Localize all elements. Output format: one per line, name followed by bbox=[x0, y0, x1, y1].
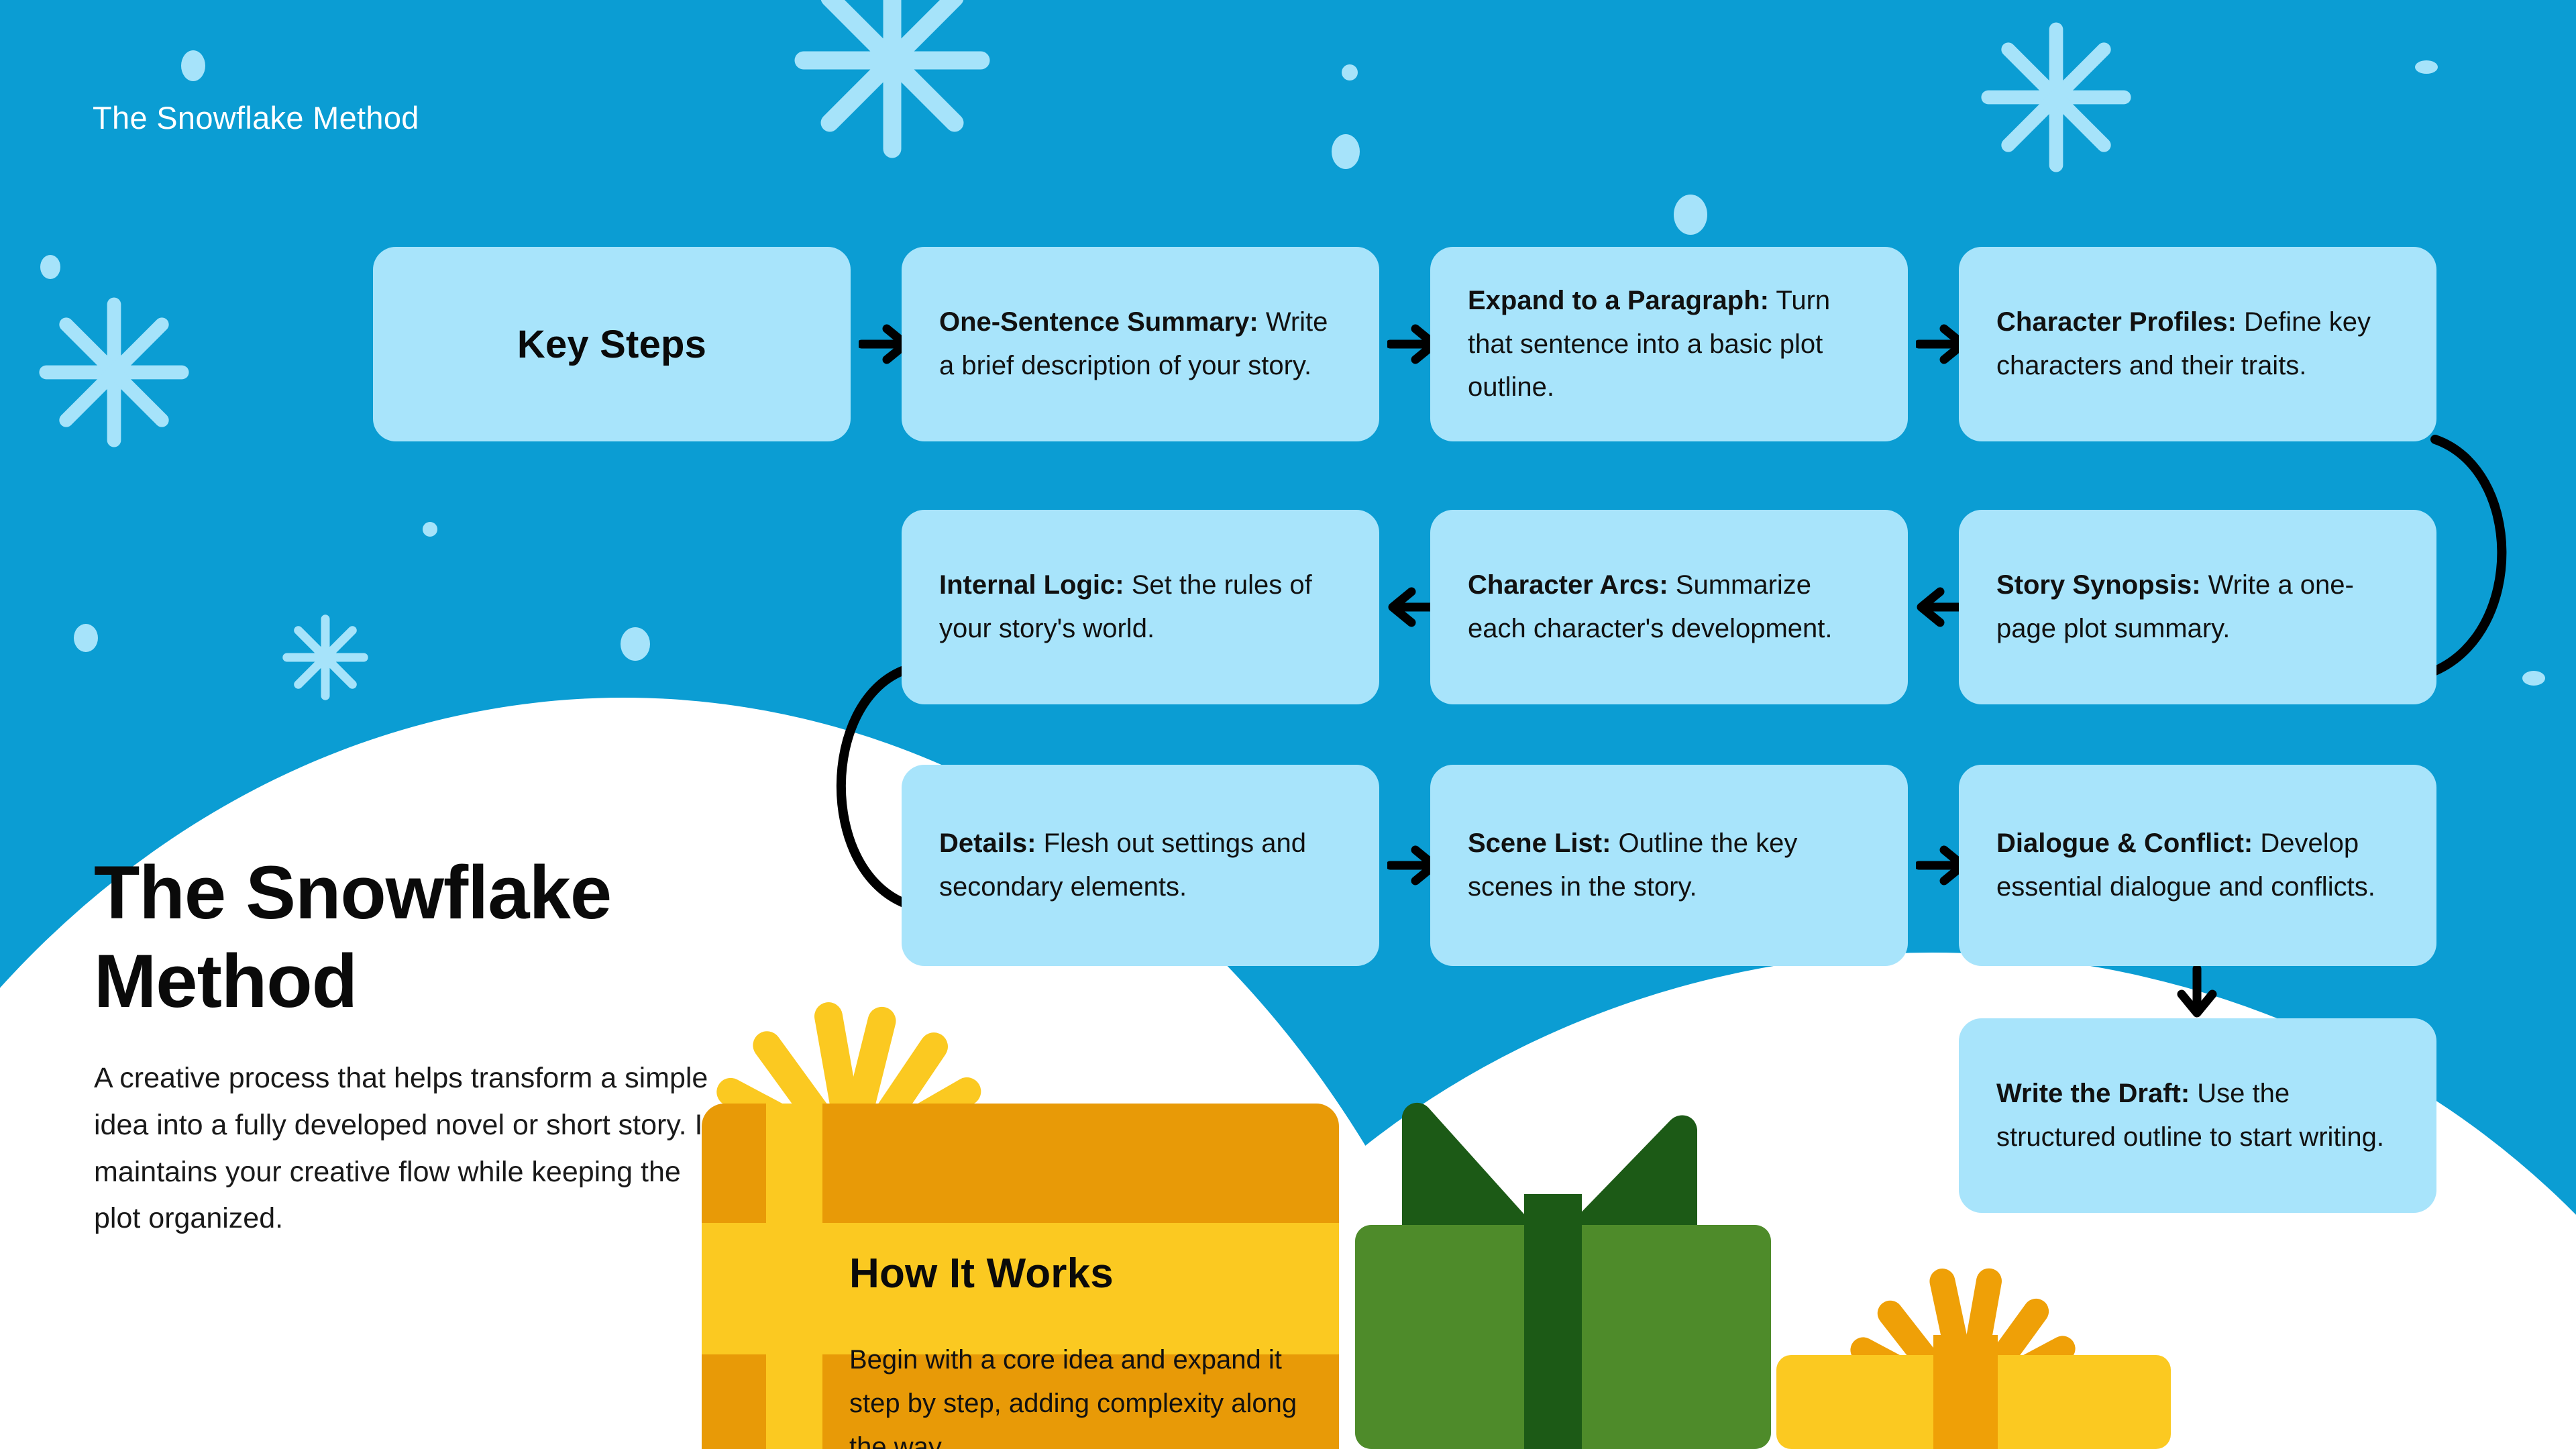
flow-step-8-term: Scene List: bbox=[1468, 828, 1611, 858]
flow-step-6-term: Internal Logic: bbox=[939, 570, 1124, 600]
flow-step-5[interactable]: Character Arcs: Summarize each character… bbox=[1430, 510, 1908, 704]
flow-step-4-term: Story Synopsis: bbox=[1996, 570, 2201, 600]
flow-step-9-text: Dialogue & Conflict: Develop essential d… bbox=[1959, 822, 2436, 909]
snowflake-icon-top-right bbox=[1979, 20, 2133, 174]
flow-step-4-text: Story Synopsis: Write a one-page plot su… bbox=[1959, 563, 2436, 651]
flow-step-6-text: Internal Logic: Set the rules of your st… bbox=[902, 563, 1379, 651]
flow-step-10-text: Write the Draft: Use the structured outl… bbox=[1959, 1072, 2436, 1159]
snow-dot bbox=[40, 255, 60, 279]
snowflake-icon-top bbox=[782, 0, 1003, 161]
flow-step-5-text: Character Arcs: Summarize each character… bbox=[1430, 563, 1908, 651]
snow-dot bbox=[181, 50, 205, 81]
page-title: The Snowflake Method bbox=[93, 99, 419, 136]
flow-step-4[interactable]: Story Synopsis: Write a one-page plot su… bbox=[1959, 510, 2436, 704]
intro-block: The Snowflake Method A creative process … bbox=[94, 849, 724, 1242]
snow-dot bbox=[1674, 195, 1707, 235]
infographic-canvas: The Snowflake Method Key Steps One-Sente… bbox=[0, 0, 2576, 1449]
flow-start-label: Key Steps bbox=[517, 322, 706, 367]
snow-dot bbox=[423, 522, 437, 537]
intro-title: The Snowflake Method bbox=[94, 849, 724, 1026]
snow-dot bbox=[1342, 64, 1358, 80]
flow-step-8-text: Scene List: Outline the key scenes in th… bbox=[1430, 822, 1908, 909]
snow-dot bbox=[1332, 134, 1360, 169]
flow-step-2-text: Expand to a Paragraph: Turn that sentenc… bbox=[1430, 279, 1908, 409]
snow-dot bbox=[74, 624, 98, 652]
flow-step-7[interactable]: Details: Flesh out settings and secondar… bbox=[902, 765, 1379, 966]
how-it-works-card: How It Works Begin with a core idea and … bbox=[702, 1104, 1339, 1449]
how-it-works-body: Begin with a core idea and expand it ste… bbox=[849, 1338, 1319, 1449]
flow-step-3-text: Character Profiles: Define key character… bbox=[1959, 301, 2436, 388]
flow-step-1-term: One-Sentence Summary: bbox=[939, 307, 1258, 337]
flow-step-8[interactable]: Scene List: Outline the key scenes in th… bbox=[1430, 765, 1908, 966]
flow-step-7-text: Details: Flesh out settings and secondar… bbox=[902, 822, 1379, 909]
flow-step-7-term: Details: bbox=[939, 828, 1036, 858]
how-it-works-title: How It Works bbox=[849, 1250, 1114, 1297]
flow-step-1[interactable]: One-Sentence Summary: Write a brief desc… bbox=[902, 247, 1379, 441]
gift-ribbon bbox=[766, 1104, 822, 1449]
snow-dot bbox=[621, 627, 650, 661]
flow-step-6[interactable]: Internal Logic: Set the rules of your st… bbox=[902, 510, 1379, 704]
flow-step-3-term: Character Profiles: bbox=[1996, 307, 2237, 337]
flow-start-box[interactable]: Key Steps bbox=[373, 247, 851, 441]
flow-step-2[interactable]: Expand to a Paragraph: Turn that sentenc… bbox=[1430, 247, 1908, 441]
gift-box-yellow bbox=[1758, 1261, 2187, 1449]
snowflake-icon-left bbox=[37, 295, 191, 449]
flow-step-10[interactable]: Write the Draft: Use the structured outl… bbox=[1959, 1018, 2436, 1213]
flow-step-9-term: Dialogue & Conflict: bbox=[1996, 828, 2253, 858]
flow-step-5-term: Character Arcs: bbox=[1468, 570, 1668, 600]
snow-dot bbox=[2415, 60, 2438, 74]
flow-step-9[interactable]: Dialogue & Conflict: Develop essential d… bbox=[1959, 765, 2436, 966]
flow-step-1-text: One-Sentence Summary: Write a brief desc… bbox=[902, 301, 1379, 388]
gift-box-green bbox=[1335, 1093, 1791, 1449]
arrow-down-icon bbox=[2173, 966, 2220, 1018]
snow-dot bbox=[2522, 671, 2545, 686]
flow-step-2-term: Expand to a Paragraph: bbox=[1468, 286, 1769, 315]
intro-description: A creative process that helps transform … bbox=[94, 1055, 724, 1242]
flow-step-3[interactable]: Character Profiles: Define key character… bbox=[1959, 247, 2436, 441]
flow-step-10-term: Write the Draft: bbox=[1996, 1079, 2190, 1108]
snowflake-icon-mid-left bbox=[282, 614, 369, 701]
